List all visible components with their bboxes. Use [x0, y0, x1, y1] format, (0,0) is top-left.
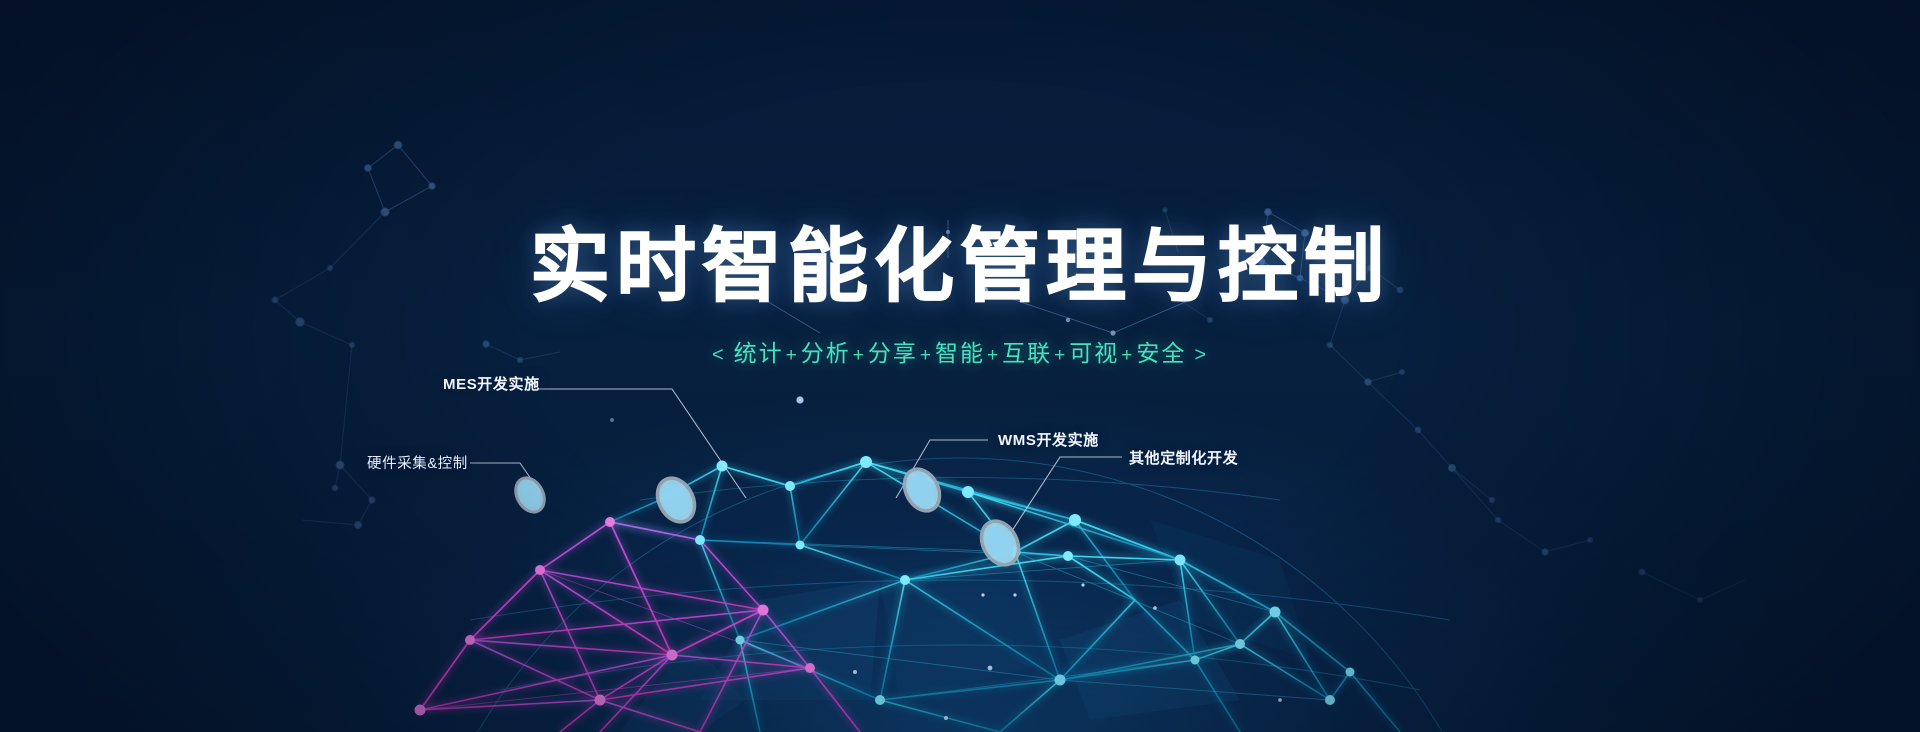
- hero-text-block: 实时智能化管理与控制 <统计+分析+分享+智能+互联+可视+安全>: [0, 228, 1920, 368]
- subtitle-separator-2: +: [918, 345, 935, 366]
- subtitle-separator-5: +: [1119, 345, 1136, 366]
- subtitle-separator-4: +: [1052, 345, 1069, 366]
- leader-line-other: [1006, 457, 1122, 540]
- callout-label-hardware: 硬件采集&控制: [367, 452, 468, 473]
- globe-pins: [510, 463, 1026, 571]
- banner-stage: 实时智能化管理与控制 <统计+分析+分享+智能+互联+可视+安全> MES开发实…: [0, 0, 1920, 732]
- subtitle-keyword-4: 互联: [1002, 340, 1052, 366]
- subtitle-close-bracket: >: [1186, 344, 1216, 366]
- hero-subtitle: <统计+分析+分享+智能+互联+可视+安全>: [0, 334, 1920, 368]
- subtitle-separator-1: +: [851, 345, 868, 366]
- page-title: 实时智能化管理与控制: [0, 228, 1920, 308]
- subtitle-separator-0: +: [784, 345, 801, 366]
- subtitle-keyword-5: 可视: [1069, 340, 1119, 366]
- callout-label-mes: MES开发实施: [443, 373, 540, 394]
- callout-label-other: 其他定制化开发: [1129, 447, 1238, 468]
- subtitle-keyword-1: 分析: [801, 340, 851, 366]
- subtitle-keyword-6: 安全: [1136, 340, 1186, 366]
- subtitle-open-bracket: <: [704, 344, 734, 366]
- subtitle-keyword-2: 分享: [868, 340, 918, 366]
- callout-label-wms: WMS开发实施: [998, 429, 1099, 450]
- subtitle-separator-3: +: [985, 345, 1002, 366]
- subtitle-keyword-3: 智能: [935, 340, 985, 366]
- leader-line-mes: [538, 389, 746, 498]
- subtitle-keyword-0: 统计: [734, 340, 784, 366]
